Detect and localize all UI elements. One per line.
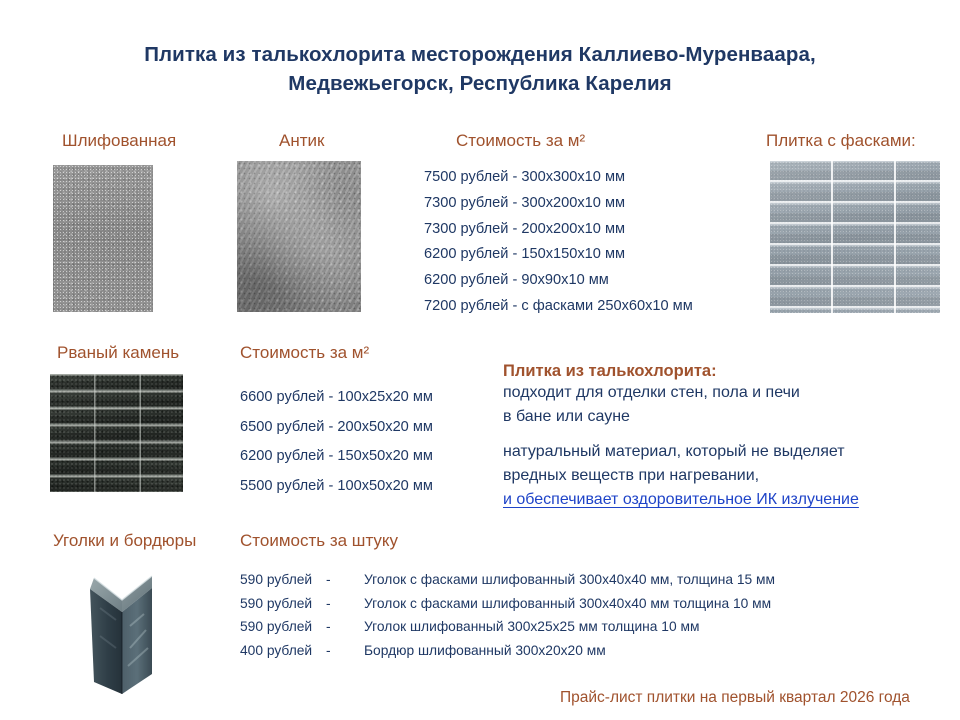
row-price: 590 рублей xyxy=(240,596,326,620)
price-list-per-sqm-ragged: 6600 рублей - 100х25х20 мм 6500 рублей -… xyxy=(240,383,433,501)
page-title-line-2: Медвежьегорск, Республика Карелия xyxy=(0,69,960,98)
price-heading-per-sqm-tiles: Стоимость за м² xyxy=(456,131,585,151)
per-piece-price-table: 590 рублей - Уголок с фасками шлифованны… xyxy=(240,572,775,666)
description-line-3: натуральный материал, который не выделяе… xyxy=(503,440,859,464)
description-spacer xyxy=(503,429,859,440)
price-item: 7300 рублей - 200х200х10 мм xyxy=(424,217,693,243)
price-heading-per-piece: Стоимость за штуку xyxy=(240,531,398,551)
row-dash: - xyxy=(326,643,364,667)
row-description: Уголок шлифованный 300х25х25 мм толщина … xyxy=(364,619,775,643)
section-heading-polished: Шлифованная xyxy=(62,131,176,151)
antique-tile-image xyxy=(237,161,361,312)
price-item: 6600 рублей - 100х25х20 мм xyxy=(240,383,433,413)
price-item: 6200 рублей - 90х90х10 мм xyxy=(424,268,693,294)
row-description: Уголок с фасками шлифованный 300х40х40 м… xyxy=(364,572,775,596)
row-dash: - xyxy=(326,596,364,620)
page-title-line-1: Плитка из талькохлорита месторождения Ка… xyxy=(0,40,960,69)
price-item: 6500 рублей - 200х50х20 мм xyxy=(240,413,433,443)
description-block: Плитка из талькохлорита: подходит для от… xyxy=(503,362,859,512)
description-line-5-link[interactable]: и обеспечивает оздоровительное ИК излуче… xyxy=(503,488,859,512)
section-heading-bevel: Плитка с фасками: xyxy=(766,131,916,151)
description-line-4: вредных веществ при нагревании, xyxy=(503,464,859,488)
price-list-per-sqm-tiles: 7500 рублей - 300х300х10 мм 7300 рублей … xyxy=(424,165,693,320)
table-row: 590 рублей - Уголок с фасками шлифованны… xyxy=(240,572,775,596)
price-item: 5500 рублей - 100х50х20 мм xyxy=(240,472,433,502)
price-item: 6200 рублей - 150х150х10 мм xyxy=(424,242,693,268)
row-dash: - xyxy=(326,572,364,596)
row-price: 590 рублей xyxy=(240,619,326,643)
description-line-2: в бане или сауне xyxy=(503,405,859,429)
price-item: 6200 рублей - 150х50х20 мм xyxy=(240,442,433,472)
price-heading-per-sqm-ragged: Стоимость за м² xyxy=(240,343,369,363)
description-heading: Плитка из талькохлорита: xyxy=(503,362,859,381)
table-row: 590 рублей - Уголок шлифованный 300х25х2… xyxy=(240,619,775,643)
corner-piece-image xyxy=(60,556,188,700)
price-item: 7200 рублей - с фасками 250х60х10 мм xyxy=(424,294,693,320)
section-heading-antique: Антик xyxy=(279,131,324,151)
polished-tile-image xyxy=(53,165,153,312)
page-title: Плитка из талькохлорита месторождения Ка… xyxy=(0,40,960,98)
row-description: Уголок с фасками шлифованный 300х40х40 м… xyxy=(364,596,775,620)
section-heading-corners: Уголки и бордюры xyxy=(53,531,196,551)
section-heading-ragged: Рваный камень xyxy=(57,343,179,363)
row-dash: - xyxy=(326,619,364,643)
ragged-stone-image xyxy=(50,374,183,492)
bevel-tile-image xyxy=(770,161,940,313)
corner-piece-icon xyxy=(60,556,188,700)
row-description: Бордюр шлифованный 300х20х20 мм xyxy=(364,643,775,667)
price-item: 7500 рублей - 300х300х10 мм xyxy=(424,165,693,191)
table-row: 590 рублей - Уголок с фасками шлифованны… xyxy=(240,596,775,620)
row-price: 400 рублей xyxy=(240,643,326,667)
row-price: 590 рублей xyxy=(240,572,326,596)
description-line-1: подходит для отделки стен, пола и печи xyxy=(503,381,859,405)
footer-note: Прайс-лист плитки на первый квартал 2026… xyxy=(560,689,910,707)
table-row: 400 рублей - Бордюр шлифованный 300х20х2… xyxy=(240,643,775,667)
description-body: подходит для отделки стен, пола и печи в… xyxy=(503,381,859,512)
price-item: 7300 рублей - 300х200х10 мм xyxy=(424,191,693,217)
